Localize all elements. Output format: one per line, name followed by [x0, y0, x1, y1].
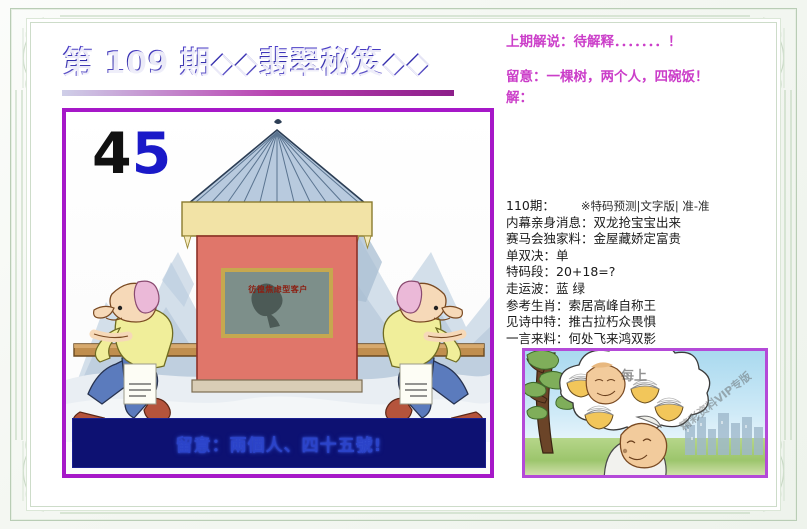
- answer-label: 解：: [506, 88, 768, 109]
- forecast-issue-label: 110期：: [506, 198, 555, 215]
- page-content: 第 109 期◇◇翡翠秘笈◇◇ 上期解说：待解释．．．．．．．！ 留意：一棵树，…: [34, 26, 773, 503]
- forecast-row: 一言来料：何处飞来鸿双影: [506, 331, 774, 348]
- sedan-chair-kiosk-icon: [182, 119, 372, 392]
- lucky-number-digit-2: 5: [132, 121, 172, 187]
- spacer: [506, 53, 768, 67]
- forecast-block: 110期： ※特码预测|文字版| 准-准 内幕亲身消息：双龙抢宝宝出来 赛马会独…: [506, 198, 774, 347]
- title-underline-rule: [62, 90, 454, 96]
- page-title: 第 109 期◇◇翡翠秘笈◇◇: [62, 40, 492, 100]
- forecast-row: 特码段：20+18=?: [506, 264, 774, 281]
- main-illustration-panel: 彷徨焦虑型客户 45 留意：兩個人、四十五號!: [62, 108, 494, 478]
- thought-bubble-text: 每上: [621, 365, 647, 384]
- forecast-header-row: 110期： ※特码预测|文字版| 准-准: [506, 198, 774, 215]
- forecast-row: 见诗中特：推古拉朽众畏惧: [506, 314, 774, 331]
- lucky-number: 45: [92, 126, 171, 183]
- dream-illustration-panel: 精彩资料VIP专版 每上: [522, 348, 768, 478]
- tree-icon: [525, 351, 575, 453]
- bottom-banner-text: 留意：兩個人、四十五號!: [176, 431, 383, 456]
- forecast-row: 赛马会独家料：金屋藏娇定富贵: [506, 231, 774, 248]
- frame-band-right: [783, 90, 793, 440]
- city-skyline-icon: [685, 413, 763, 455]
- screenshot-root: 第 109 期◇◇翡翠秘笈◇◇ 上期解说：待解释．．．．．．．！ 留意：一棵树，…: [0, 0, 807, 529]
- commentary-column: 上期解说：待解释．．．．．．．！ 留意：一棵树，两个人，四碗饭！ 解：: [506, 32, 768, 109]
- booth-label: 彷徨焦虑型客户: [66, 284, 490, 295]
- bottom-banner: 留意：兩個人、四十五號!: [72, 418, 486, 468]
- forecast-watermark: ※特码预测|文字版| 准-准: [581, 198, 710, 215]
- notice-text: 留意：一棵树，两个人，四碗饭！: [506, 67, 768, 88]
- forecast-row: 走运波：蓝 绿: [506, 281, 774, 298]
- frame-band-left: [14, 90, 24, 440]
- lucky-number-digit-1: 4: [92, 121, 132, 187]
- forecast-row: 参考生肖：索居高峰自称王: [506, 298, 774, 315]
- last-issue-explanation: 上期解说：待解释．．．．．．．！: [506, 32, 768, 53]
- forecast-row: 单双决：单: [506, 248, 774, 265]
- forecast-row: 内幕亲身消息：双龙抢宝宝出来: [506, 215, 774, 232]
- page-title-text: 第 109 期◇◇翡翠秘笈◇◇: [62, 40, 492, 86]
